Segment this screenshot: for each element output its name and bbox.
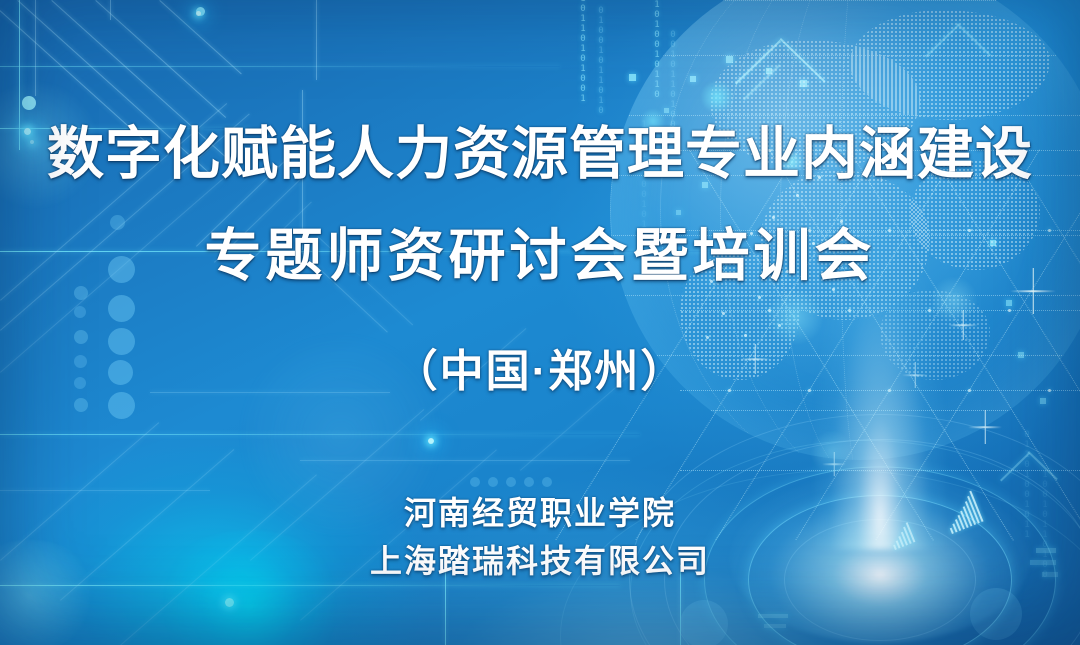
conference-poster: 10110101001 01001011010 11010010110 0010… [0, 0, 1080, 645]
organizer-line-1: 河南经贸职业学院 [0, 494, 1080, 532]
location-subtitle: （中国·郑州） [0, 346, 1080, 398]
page-title-line-2: 专题师资研讨会暨培训会 [0, 224, 1080, 288]
page-title-line-1: 数字化赋能人力资源管理专业内涵建设 [0, 122, 1080, 186]
organizer-line-2: 上海踏瑞科技有限公司 [0, 542, 1080, 580]
poster-text: 数字化赋能人力资源管理专业内涵建设 专题师资研讨会暨培训会 （中国·郑州） 河南… [0, 0, 1080, 645]
